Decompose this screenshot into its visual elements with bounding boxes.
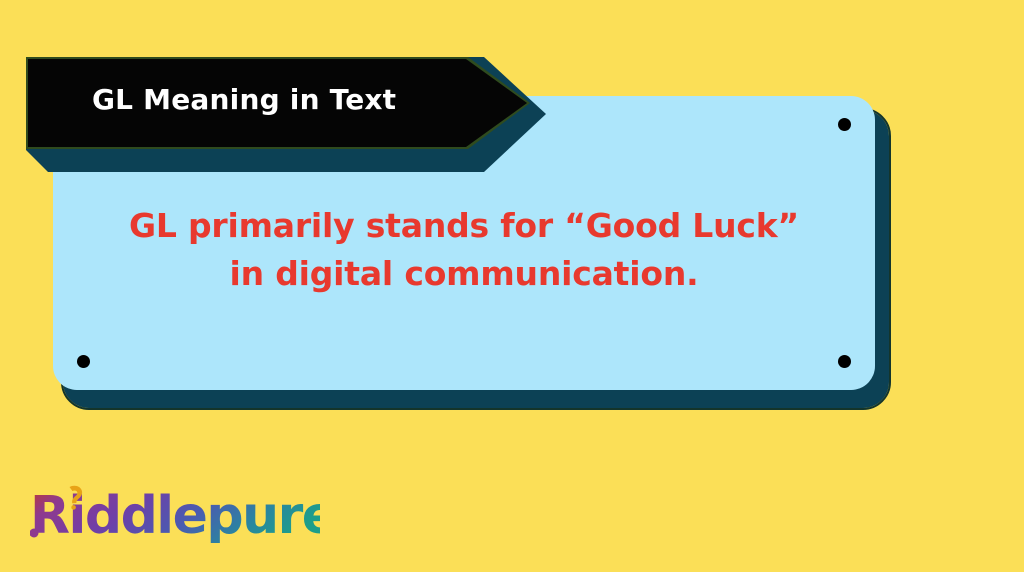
page-title: GL Meaning in Text [92, 83, 396, 116]
bolt-icon-top-right [838, 118, 851, 131]
card-statement-text: GL primarily stands for “Good Luck” in d… [111, 202, 817, 298]
poster-canvas: GL primarily stands for “Good Luck” in d… [0, 0, 1024, 572]
header-ribbon: GL Meaning in Text [26, 57, 546, 172]
brand-wordmark: Riddlepure [30, 486, 320, 543]
bolt-icon-bottom-left [77, 355, 90, 368]
bolt-icon-bottom-right [838, 355, 851, 368]
riddlepure-logo-icon: Riddlepure [30, 483, 320, 543]
brand-logo: Riddlepure [30, 487, 320, 543]
